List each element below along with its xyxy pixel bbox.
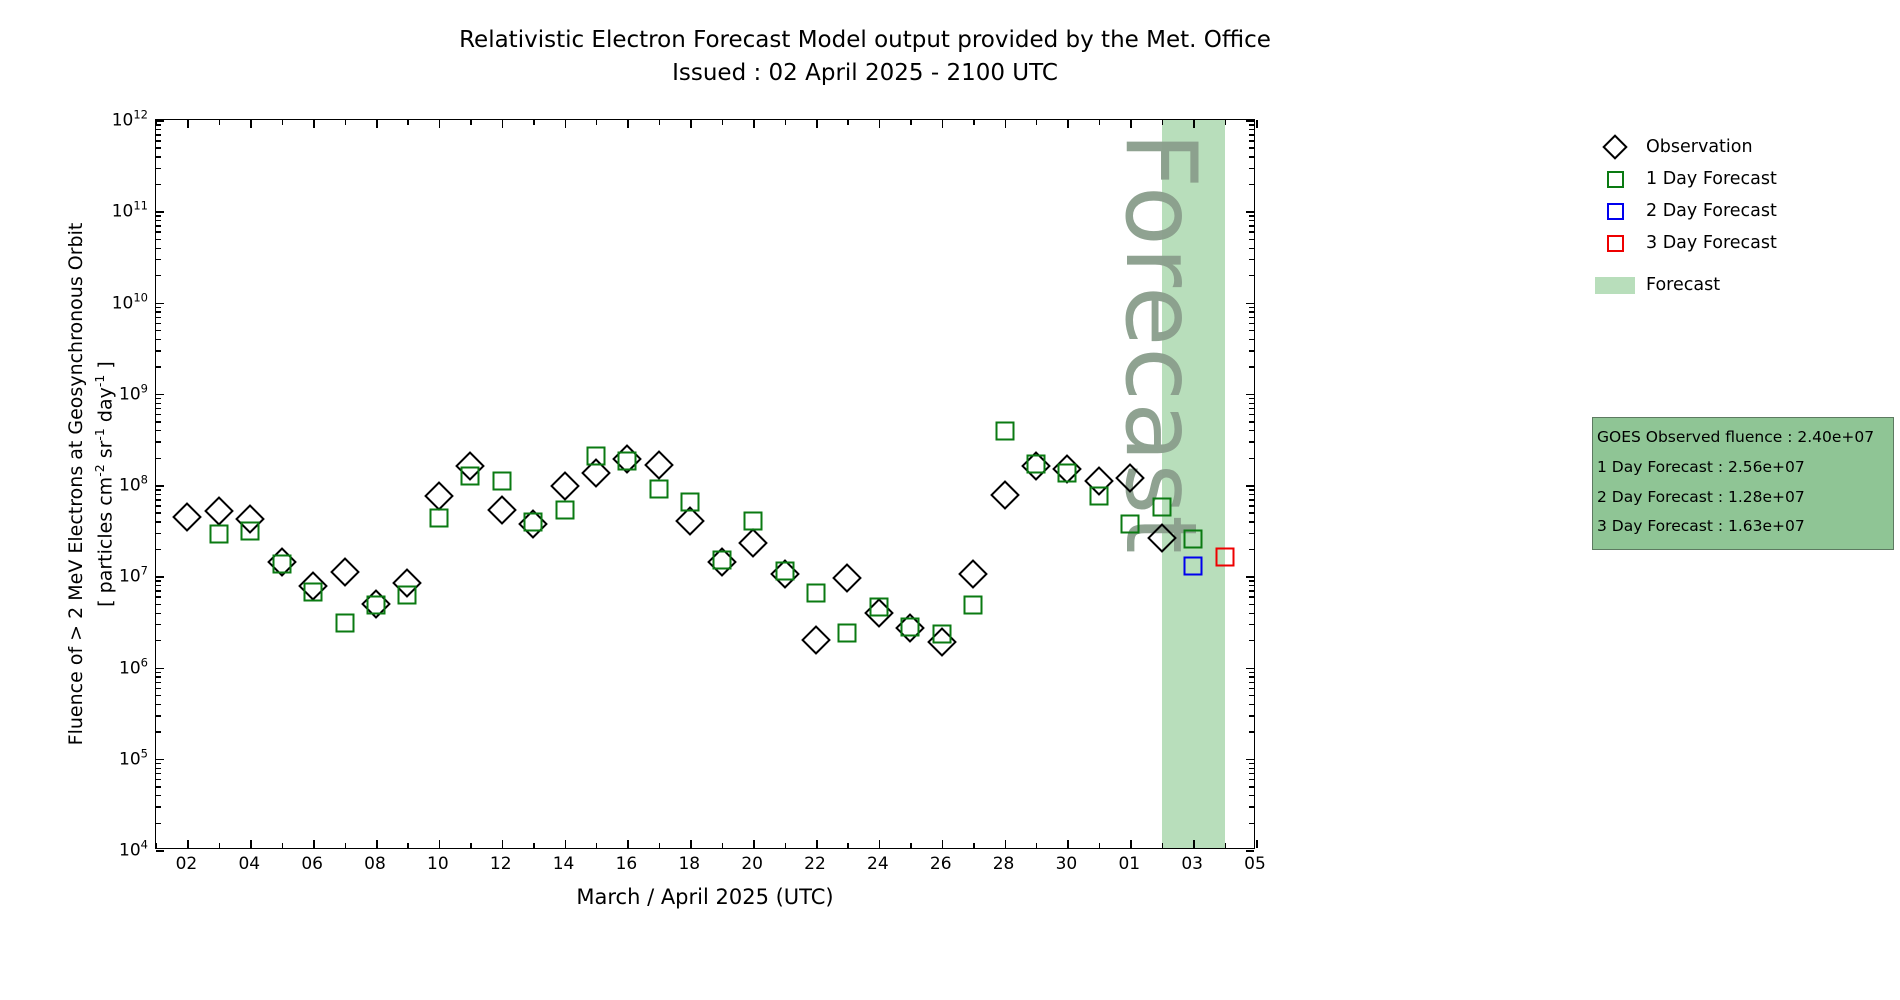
observation-marker [173, 502, 203, 532]
axis-tick [1249, 366, 1254, 367]
legend-item[interactable]: 1 Day Forecast [1592, 163, 1882, 195]
x-axis-title: March / April 2025 (UTC) [155, 885, 1255, 909]
forecast-marker [1184, 557, 1203, 576]
axis-tick [1249, 408, 1254, 409]
square-icon [1607, 235, 1624, 252]
data-markers-layer [156, 120, 1254, 848]
y-tick-label: 1010 [112, 290, 148, 313]
axis-tick [156, 398, 161, 399]
axis-tick [973, 843, 974, 848]
observation-marker [424, 482, 454, 512]
forecast-marker [209, 525, 228, 544]
axis-tick [1249, 604, 1254, 605]
square-icon [1607, 171, 1624, 188]
forecast-marker [241, 522, 260, 541]
x-tick-label: 26 [930, 854, 952, 874]
y-tick-label: 109 [119, 381, 148, 404]
axis-tick [1249, 220, 1254, 221]
axis-tick [1249, 215, 1254, 216]
axis-tick [156, 843, 157, 848]
axis-tick [187, 840, 189, 848]
axis-tick [156, 759, 164, 761]
axis-tick [1249, 339, 1254, 340]
axis-tick [816, 840, 818, 848]
axis-tick [156, 311, 161, 312]
axis-tick [565, 840, 567, 848]
forecast-marker [618, 451, 637, 470]
x-tick-label: 06 [301, 854, 323, 874]
axis-tick [1193, 840, 1195, 848]
axis-tick [1162, 120, 1163, 125]
axis-tick [156, 695, 161, 696]
axis-tick [282, 843, 283, 848]
axis-tick [156, 231, 161, 232]
axis-tick [1249, 521, 1254, 522]
axis-tick [345, 120, 346, 125]
axis-tick [407, 843, 408, 848]
axis-tick [156, 786, 161, 787]
axis-tick [1249, 156, 1254, 157]
axis-tick [1249, 676, 1254, 677]
axis-tick [1246, 485, 1254, 487]
axis-tick [345, 843, 346, 848]
axis-tick [1246, 668, 1254, 670]
legend-label: 3 Day Forecast [1638, 233, 1777, 253]
axis-tick [1249, 140, 1254, 141]
axis-tick [156, 275, 161, 276]
axis-tick [156, 494, 161, 495]
chart-root: Relativistic Electron Forecast Model out… [0, 0, 1900, 1000]
axis-tick [470, 120, 471, 125]
axis-tick [1249, 640, 1254, 641]
forecast-marker [335, 613, 354, 632]
axis-tick [627, 840, 629, 848]
axis-tick [156, 624, 161, 625]
axis-tick [942, 840, 944, 848]
y-tick-label: 1012 [112, 108, 148, 131]
axis-tick [1249, 596, 1254, 597]
legend-item[interactable]: Forecast [1592, 269, 1882, 301]
axis-tick [1249, 549, 1254, 550]
axis-tick [156, 763, 161, 764]
axis-tick [659, 120, 660, 125]
axis-tick [156, 414, 161, 415]
legend-symbol [1592, 277, 1638, 294]
axis-tick [250, 120, 252, 128]
axis-tick [722, 120, 723, 125]
axis-tick [156, 225, 161, 226]
axis-tick [156, 640, 161, 641]
forecast-marker [1215, 547, 1234, 566]
axis-tick [1249, 184, 1254, 185]
forecast-marker [492, 472, 511, 491]
axis-tick [156, 779, 161, 780]
forecast-marker [1089, 487, 1108, 506]
y-tick-label: 107 [119, 564, 148, 587]
axis-tick [156, 604, 161, 605]
forecast-marker [649, 480, 668, 499]
axis-tick [219, 120, 220, 125]
x-tick-label: 02 [176, 854, 198, 874]
forecast-marker [429, 508, 448, 527]
info-box-row: 2 Day Forecast : 1.28e+07 [1597, 483, 1893, 513]
axis-tick [156, 184, 161, 185]
axis-tick [313, 120, 315, 128]
axis-tick [1249, 350, 1254, 351]
legend-symbol [1592, 171, 1638, 188]
observation-marker [833, 563, 863, 593]
axis-tick [1249, 731, 1254, 732]
axis-tick [533, 843, 534, 848]
x-tick-label: 14 [553, 854, 575, 874]
axis-tick [156, 682, 161, 683]
axis-tick [816, 120, 818, 128]
axis-tick [1249, 398, 1254, 399]
axis-tick [156, 330, 161, 331]
axis-tick [156, 704, 161, 705]
axis-tick [407, 120, 408, 125]
axis-tick [156, 823, 161, 824]
axis-tick [1246, 303, 1254, 305]
axis-tick [1249, 225, 1254, 226]
axis-tick [282, 120, 283, 125]
axis-tick [156, 168, 161, 169]
axis-tick [156, 505, 161, 506]
axis-tick [1036, 843, 1037, 848]
axis-tick [156, 307, 161, 308]
observation-marker [204, 496, 234, 526]
axis-tick [879, 120, 881, 128]
axis-tick [156, 512, 161, 513]
axis-tick [1249, 421, 1254, 422]
axis-tick [753, 120, 755, 128]
axis-tick [722, 843, 723, 848]
observation-marker [1115, 463, 1145, 493]
forecast-marker [775, 561, 794, 580]
axis-tick [156, 489, 161, 490]
x-tick-label: 24 [867, 854, 889, 874]
forecast-marker [587, 446, 606, 465]
axis-tick [1162, 843, 1163, 848]
forecast-marker [304, 582, 323, 601]
legend-label: Forecast [1638, 275, 1720, 295]
axis-tick [156, 485, 164, 487]
forecast-marker [461, 467, 480, 486]
x-tick-label: 01 [1118, 854, 1140, 874]
axis-tick [1249, 259, 1254, 260]
x-tick-label: 10 [427, 854, 449, 874]
axis-tick [1249, 823, 1254, 824]
axis-tick [1249, 403, 1254, 404]
forecast-marker [869, 598, 888, 617]
axis-tick [156, 688, 161, 689]
forecast-marker [555, 501, 574, 520]
axis-tick [1249, 715, 1254, 716]
axis-tick [156, 220, 161, 221]
x-tick-label: 04 [238, 854, 260, 874]
axis-tick [156, 430, 161, 431]
axis-tick [1249, 505, 1254, 506]
axis-tick [1249, 795, 1254, 796]
axis-tick [156, 458, 161, 459]
title-line-1: Relativistic Electron Forecast Model out… [0, 24, 1730, 57]
y-tick-label: 106 [119, 655, 148, 678]
observation-marker [550, 471, 580, 501]
axis-tick [470, 843, 471, 848]
observation-marker [1147, 524, 1177, 554]
axis-tick [596, 120, 597, 125]
axis-tick [1249, 147, 1254, 148]
axis-tick [156, 403, 161, 404]
axis-tick [156, 590, 161, 591]
observation-marker [801, 625, 831, 655]
axis-tick [156, 140, 161, 141]
shaded-patch-icon [1595, 277, 1635, 294]
axis-tick [1130, 120, 1132, 128]
axis-tick [1249, 806, 1254, 807]
axis-tick [1249, 231, 1254, 232]
axis-tick [1036, 120, 1037, 125]
axis-tick [1249, 695, 1254, 696]
axis-tick [1256, 120, 1258, 128]
axis-tick [1249, 441, 1254, 442]
axis-tick [313, 840, 315, 848]
axis-tick [156, 672, 161, 673]
axis-tick [156, 580, 161, 581]
chart-title: Relativistic Electron Forecast Model out… [0, 24, 1730, 89]
axis-tick [156, 239, 161, 240]
axis-tick [1005, 120, 1007, 128]
axis-tick [156, 576, 164, 578]
axis-tick [942, 120, 944, 128]
axis-tick [847, 843, 848, 848]
axis-tick [1249, 590, 1254, 591]
forecast-marker [681, 493, 700, 512]
axis-tick [1249, 499, 1254, 500]
axis-tick [156, 211, 164, 213]
diamond-icon [1602, 134, 1627, 159]
axis-tick [1249, 763, 1254, 764]
axis-tick [1249, 239, 1254, 240]
axis-tick [376, 120, 378, 128]
axis-tick [502, 120, 504, 128]
axis-tick [1225, 120, 1226, 125]
forecast-marker [995, 422, 1014, 441]
axis-tick [1246, 850, 1254, 852]
axis-tick [156, 441, 161, 442]
x-tick-label: 18 [678, 854, 700, 874]
y-axis-title-line-1: Fluence of > 2 MeV Electrons at Geosynch… [62, 119, 91, 849]
axis-tick [156, 408, 161, 409]
axis-tick [1246, 759, 1254, 761]
axis-tick [1249, 489, 1254, 490]
observation-marker [958, 559, 988, 589]
axis-tick [156, 248, 161, 249]
legend-label: 2 Day Forecast [1638, 201, 1777, 221]
observation-marker [990, 480, 1020, 510]
axis-tick [1130, 840, 1132, 848]
x-tick-label: 28 [993, 854, 1015, 874]
x-tick-label: 16 [616, 854, 638, 874]
axis-tick [1249, 704, 1254, 705]
axis-tick [1246, 120, 1254, 122]
axis-tick [250, 840, 252, 848]
axis-tick [1256, 840, 1258, 848]
axis-tick [156, 596, 161, 597]
y-tick-label: 1011 [112, 199, 148, 222]
axis-tick [1249, 307, 1254, 308]
axis-tick [156, 323, 161, 324]
axis-tick [1249, 768, 1254, 769]
axis-tick [1249, 786, 1254, 787]
forecast-marker [838, 623, 857, 642]
axis-tick [910, 120, 911, 125]
axis-tick [156, 533, 161, 534]
legend-item[interactable]: 3 Day Forecast [1592, 227, 1882, 259]
axis-tick [1099, 120, 1100, 125]
fluence-info-box: GOES Observed fluence : 2.40e+071 Day Fo… [1592, 417, 1894, 550]
axis-tick [156, 850, 164, 852]
legend-symbol [1592, 203, 1638, 220]
axis-tick [1249, 688, 1254, 689]
axis-tick [1249, 275, 1254, 276]
axis-tick [627, 120, 629, 128]
axis-tick [1249, 124, 1254, 125]
axis-tick [1246, 211, 1254, 213]
axis-tick [156, 499, 161, 500]
axis-tick [1249, 311, 1254, 312]
axis-tick [439, 840, 441, 848]
forecast-marker [524, 513, 543, 532]
axis-tick [1067, 840, 1069, 848]
legend: Observation1 Day Forecast2 Day Forecast3… [1592, 131, 1882, 301]
forecast-marker [712, 551, 731, 570]
axis-tick [156, 259, 161, 260]
axis-tick [753, 840, 755, 848]
axis-tick [219, 843, 220, 848]
forecast-marker [1027, 454, 1046, 473]
axis-tick [439, 120, 441, 128]
title-line-2: Issued : 02 April 2025 - 2100 UTC [0, 57, 1730, 90]
axis-tick [1249, 494, 1254, 495]
axis-tick [1246, 394, 1254, 396]
axis-tick [1067, 120, 1069, 128]
axis-tick [1249, 317, 1254, 318]
forecast-marker [901, 617, 920, 636]
axis-tick [156, 549, 161, 550]
axis-tick [1249, 624, 1254, 625]
legend-symbol [1592, 138, 1638, 156]
axis-tick [1249, 330, 1254, 331]
axis-tick [879, 840, 881, 848]
axis-tick [1246, 576, 1254, 578]
y-tick-label: 104 [119, 838, 148, 861]
info-box-row: 3 Day Forecast : 1.63e+07 [1597, 512, 1893, 542]
axis-tick [156, 366, 161, 367]
x-tick-label: 20 [741, 854, 763, 874]
axis-tick [376, 840, 378, 848]
axis-tick [785, 843, 786, 848]
info-box-row: 1 Day Forecast : 2.56e+07 [1597, 453, 1893, 483]
axis-tick [156, 129, 161, 130]
info-box-row: GOES Observed fluence : 2.40e+07 [1597, 423, 1893, 453]
axis-tick [785, 120, 786, 125]
axis-tick [156, 585, 161, 586]
legend-item[interactable]: Observation [1592, 131, 1882, 163]
axis-tick [910, 843, 911, 848]
legend-label: Observation [1638, 137, 1753, 157]
axis-tick [156, 715, 161, 716]
forecast-marker [1058, 464, 1077, 483]
forecast-marker [807, 584, 826, 603]
axis-tick [187, 120, 189, 128]
axis-tick [565, 120, 567, 128]
forecast-marker [744, 512, 763, 531]
axis-tick [596, 843, 597, 848]
axis-tick [156, 120, 164, 122]
axis-tick [1249, 512, 1254, 513]
forecast-marker [1121, 515, 1140, 534]
plot-area: Forecast [155, 119, 1255, 849]
axis-tick [156, 394, 164, 396]
axis-tick [690, 840, 692, 848]
axis-tick [1249, 779, 1254, 780]
y-tick-label: 108 [119, 473, 148, 496]
axis-tick [1249, 682, 1254, 683]
axis-tick [1193, 120, 1195, 128]
axis-tick [1249, 533, 1254, 534]
axis-tick [156, 795, 161, 796]
x-tick-label: 30 [1056, 854, 1078, 874]
square-icon [1607, 203, 1624, 220]
axis-tick [156, 134, 161, 135]
axis-tick [690, 120, 692, 128]
observation-marker [330, 558, 360, 588]
axis-tick [156, 676, 161, 677]
forecast-marker [398, 586, 417, 605]
axis-tick [156, 521, 161, 522]
axis-tick [1249, 458, 1254, 459]
axis-tick [156, 124, 161, 125]
forecast-marker [932, 625, 951, 644]
axis-tick [1249, 129, 1254, 130]
axis-tick [156, 350, 161, 351]
legend-label: 1 Day Forecast [1638, 169, 1777, 189]
axis-tick [973, 120, 974, 125]
forecast-marker [964, 596, 983, 615]
legend-symbol [1592, 235, 1638, 252]
forecast-marker [1184, 529, 1203, 548]
axis-tick [156, 806, 161, 807]
axis-tick [1249, 613, 1254, 614]
axis-tick [1225, 843, 1226, 848]
axis-tick [1249, 134, 1254, 135]
y-axis-title-line-2: [ particles cm-2 sr-1 day-1 ] [91, 119, 120, 849]
axis-tick [1249, 430, 1254, 431]
axis-tick [156, 731, 161, 732]
axis-tick [847, 120, 848, 125]
observation-marker [487, 495, 517, 525]
legend-item[interactable]: 2 Day Forecast [1592, 195, 1882, 227]
axis-tick [1249, 773, 1254, 774]
axis-tick [156, 613, 161, 614]
x-tick-label: 05 [1244, 854, 1266, 874]
axis-tick [156, 317, 161, 318]
axis-tick [1249, 168, 1254, 169]
y-tick-label: 105 [119, 746, 148, 769]
y-axis-title: Fluence of > 2 MeV Electrons at Geosynch… [62, 119, 119, 849]
x-tick-label: 08 [364, 854, 386, 874]
